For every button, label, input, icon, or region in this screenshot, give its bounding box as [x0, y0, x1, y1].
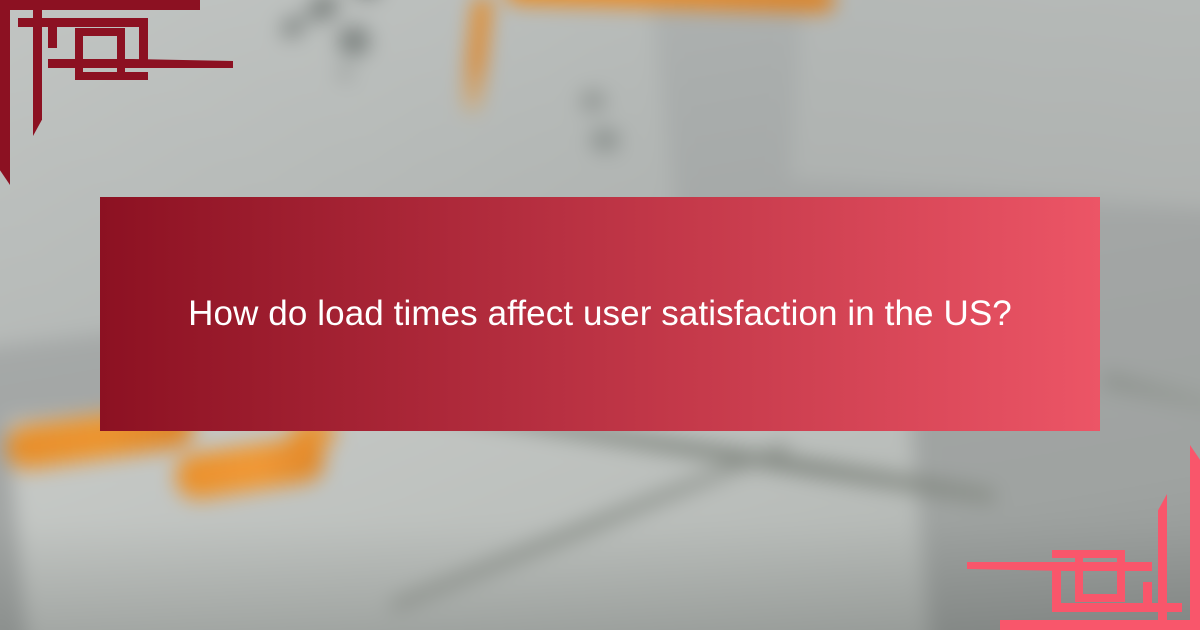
poster-canvas: How do load times affect user satisfacti…: [0, 0, 1200, 630]
pencil-marks-cluster: [280, 0, 400, 80]
ornament-line-horizontal-outer: [1000, 620, 1200, 630]
headline-banner: How do load times affect user satisfacti…: [100, 197, 1100, 431]
ornament-elbow: [48, 18, 57, 48]
corner-ornament-bottom-right: [1000, 430, 1200, 630]
ornament-elbow: [1143, 582, 1152, 612]
corner-ornament-top-left: [0, 0, 200, 200]
ornament-line-horizontal-inner: [1052, 603, 1182, 612]
ornament-line-vertical-outer: [0, 0, 10, 185]
ornament-line-vertical-outer: [1190, 445, 1200, 630]
ornament-line-horizontal-inner: [18, 18, 148, 27]
headline-title: How do load times affect user satisfacti…: [188, 286, 1012, 343]
ornament-line-horizontal-outer: [0, 0, 200, 10]
ornament-square-bottom: [1052, 550, 1125, 558]
pencil-mark-middle: [580, 90, 606, 112]
ornament-square-bottom: [75, 72, 148, 80]
pencil-mark-lower: [590, 128, 620, 152]
